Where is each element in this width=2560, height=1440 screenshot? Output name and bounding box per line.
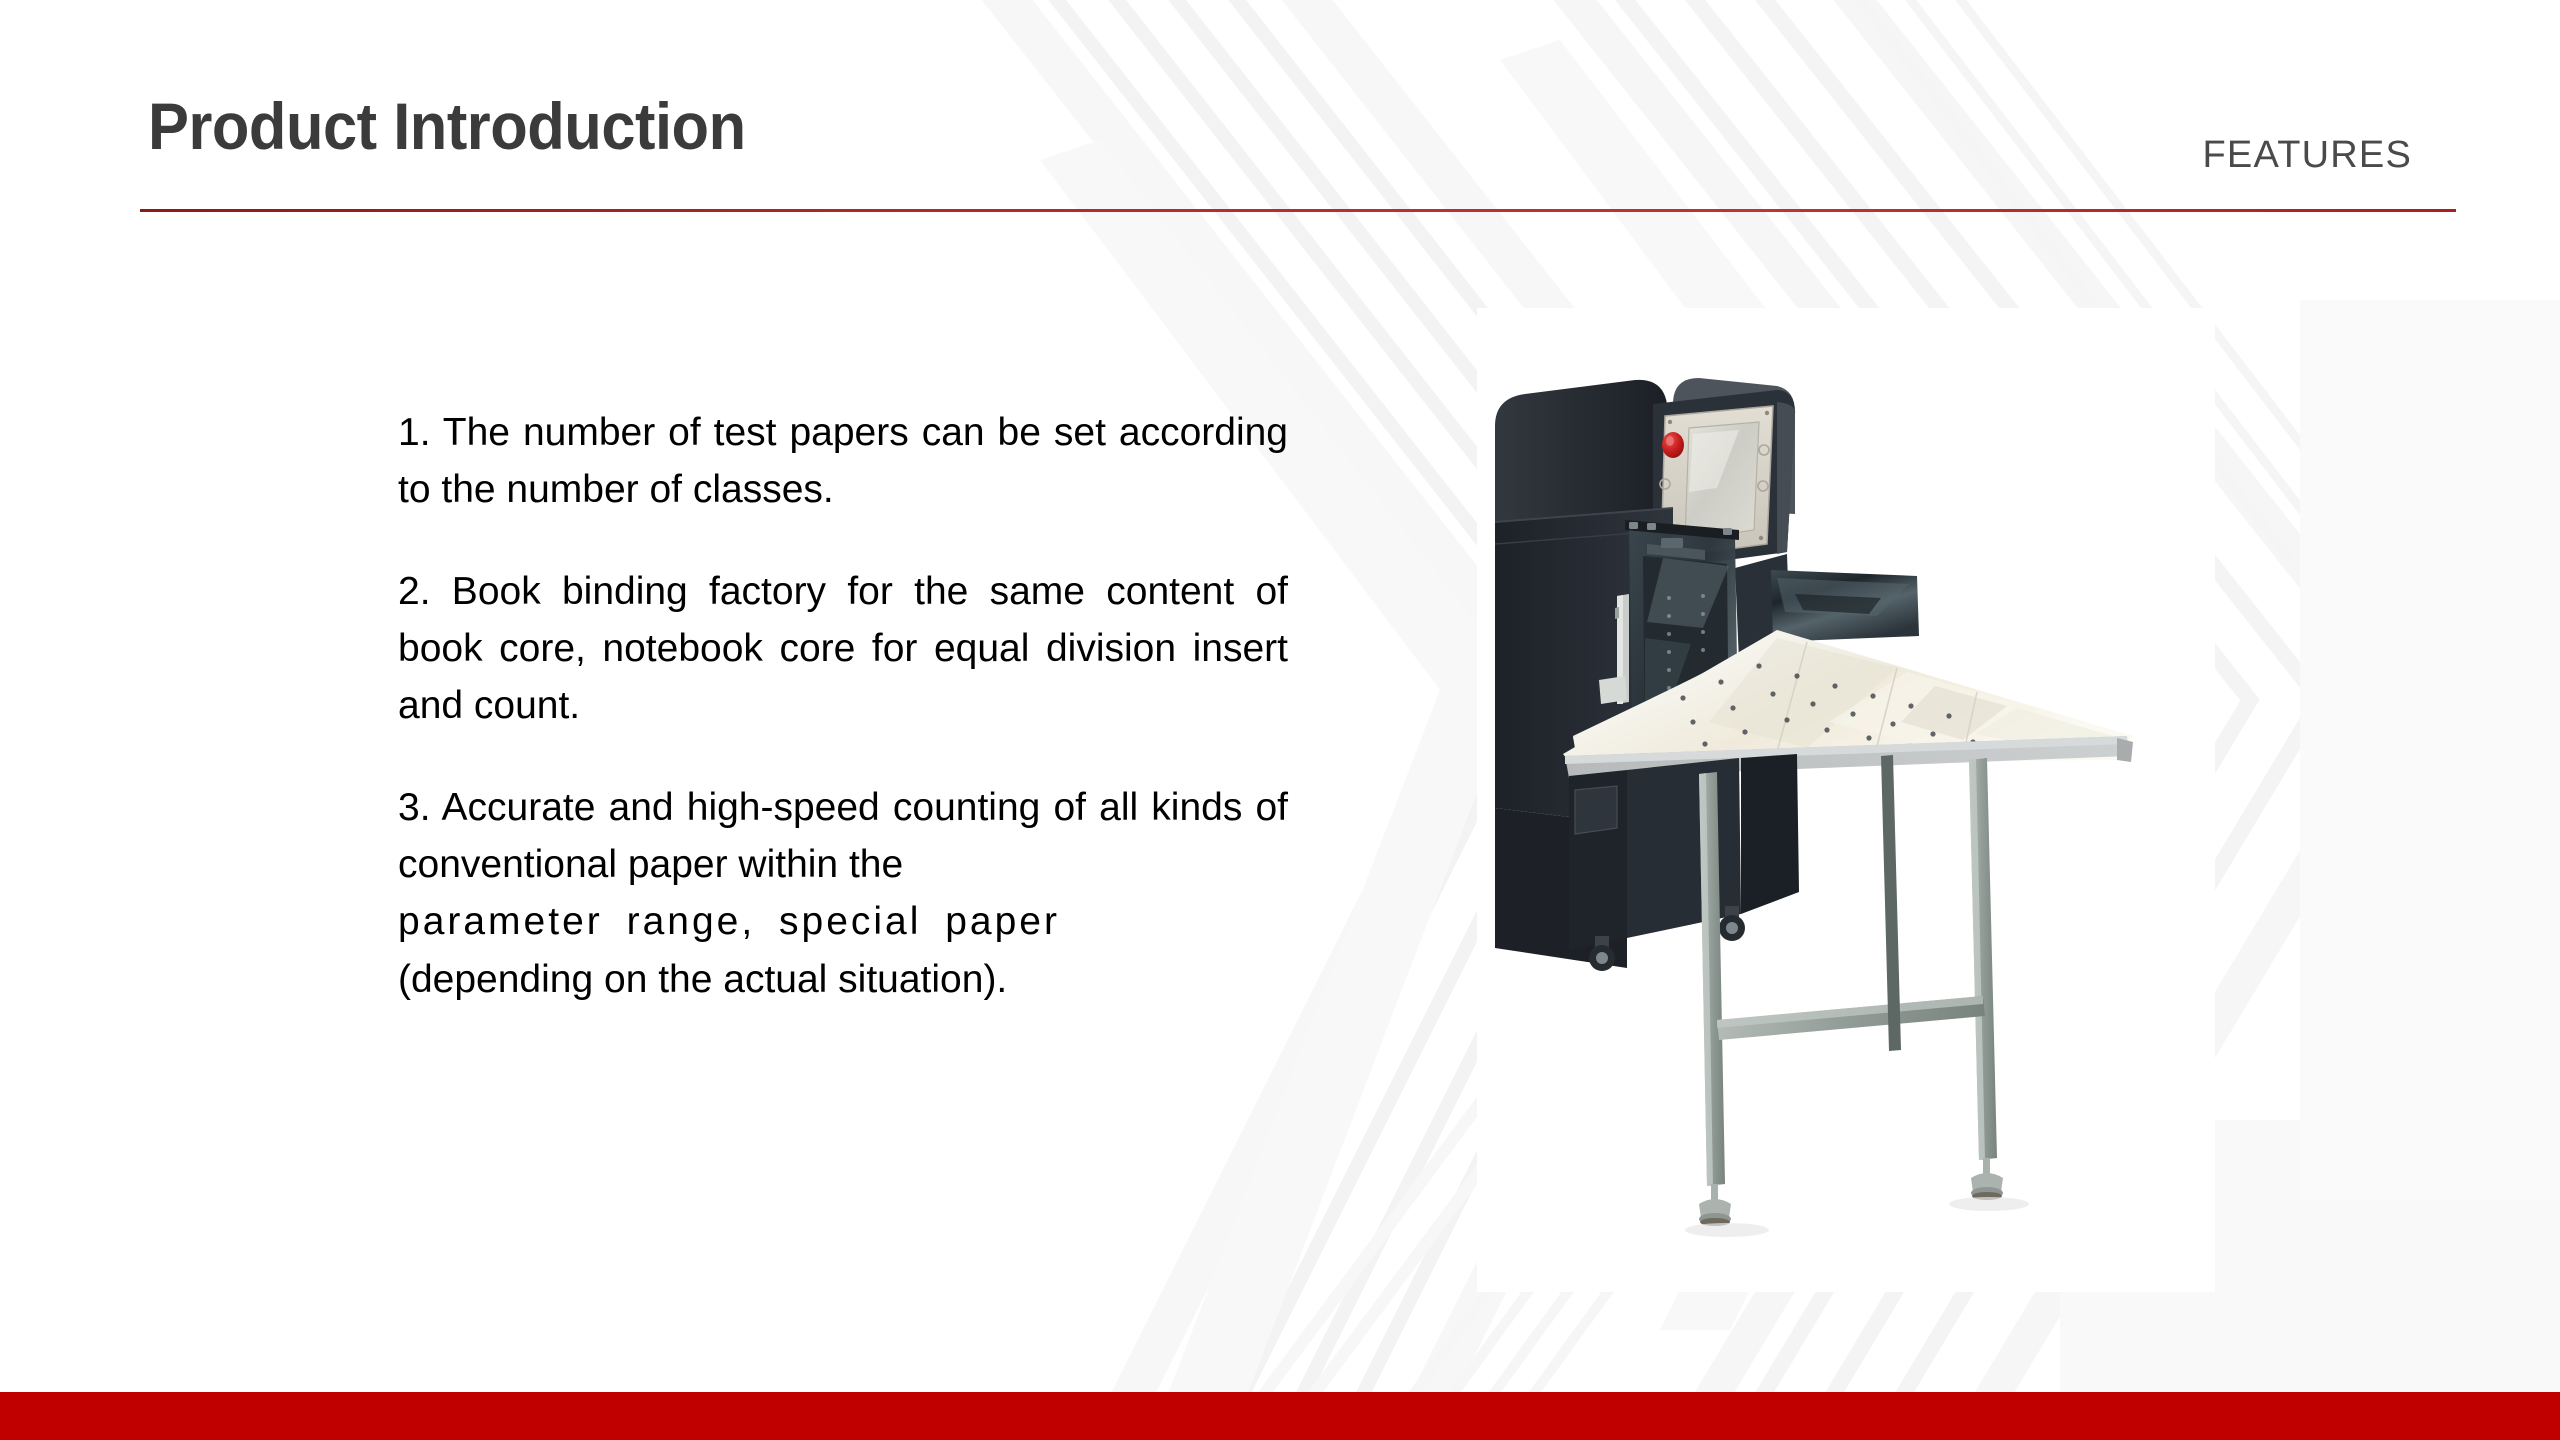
footer-accent-bar bbox=[0, 1392, 2560, 1440]
section-eyebrow-label: FEATURES bbox=[2203, 134, 2412, 177]
paper-counting-machine-illustration bbox=[1477, 308, 2215, 1292]
header-divider-rule bbox=[140, 209, 2456, 212]
feature-paragraph-3-tail: (depending on the actual situation). bbox=[398, 958, 1007, 1001]
feature-paragraph-2: 2. Book binding factory for the same con… bbox=[398, 563, 1288, 735]
feature-paragraph-3: 3. Accurate and high-speed counting of a… bbox=[398, 779, 1288, 1008]
slide-canvas: Product Introduction FEATURES 1. The num… bbox=[0, 0, 2560, 1440]
feature-list: 1. The number of test papers can be set … bbox=[398, 404, 1288, 1008]
feature-paragraph-1: 1. The number of test papers can be set … bbox=[398, 404, 1288, 519]
page-title: Product Introduction bbox=[148, 88, 746, 164]
product-photo bbox=[1477, 308, 2215, 1292]
feature-paragraph-3-spread: parameter range, special paper bbox=[398, 893, 1288, 950]
feature-paragraph-3-lead: 3. Accurate and high-speed counting of a… bbox=[398, 786, 1288, 886]
